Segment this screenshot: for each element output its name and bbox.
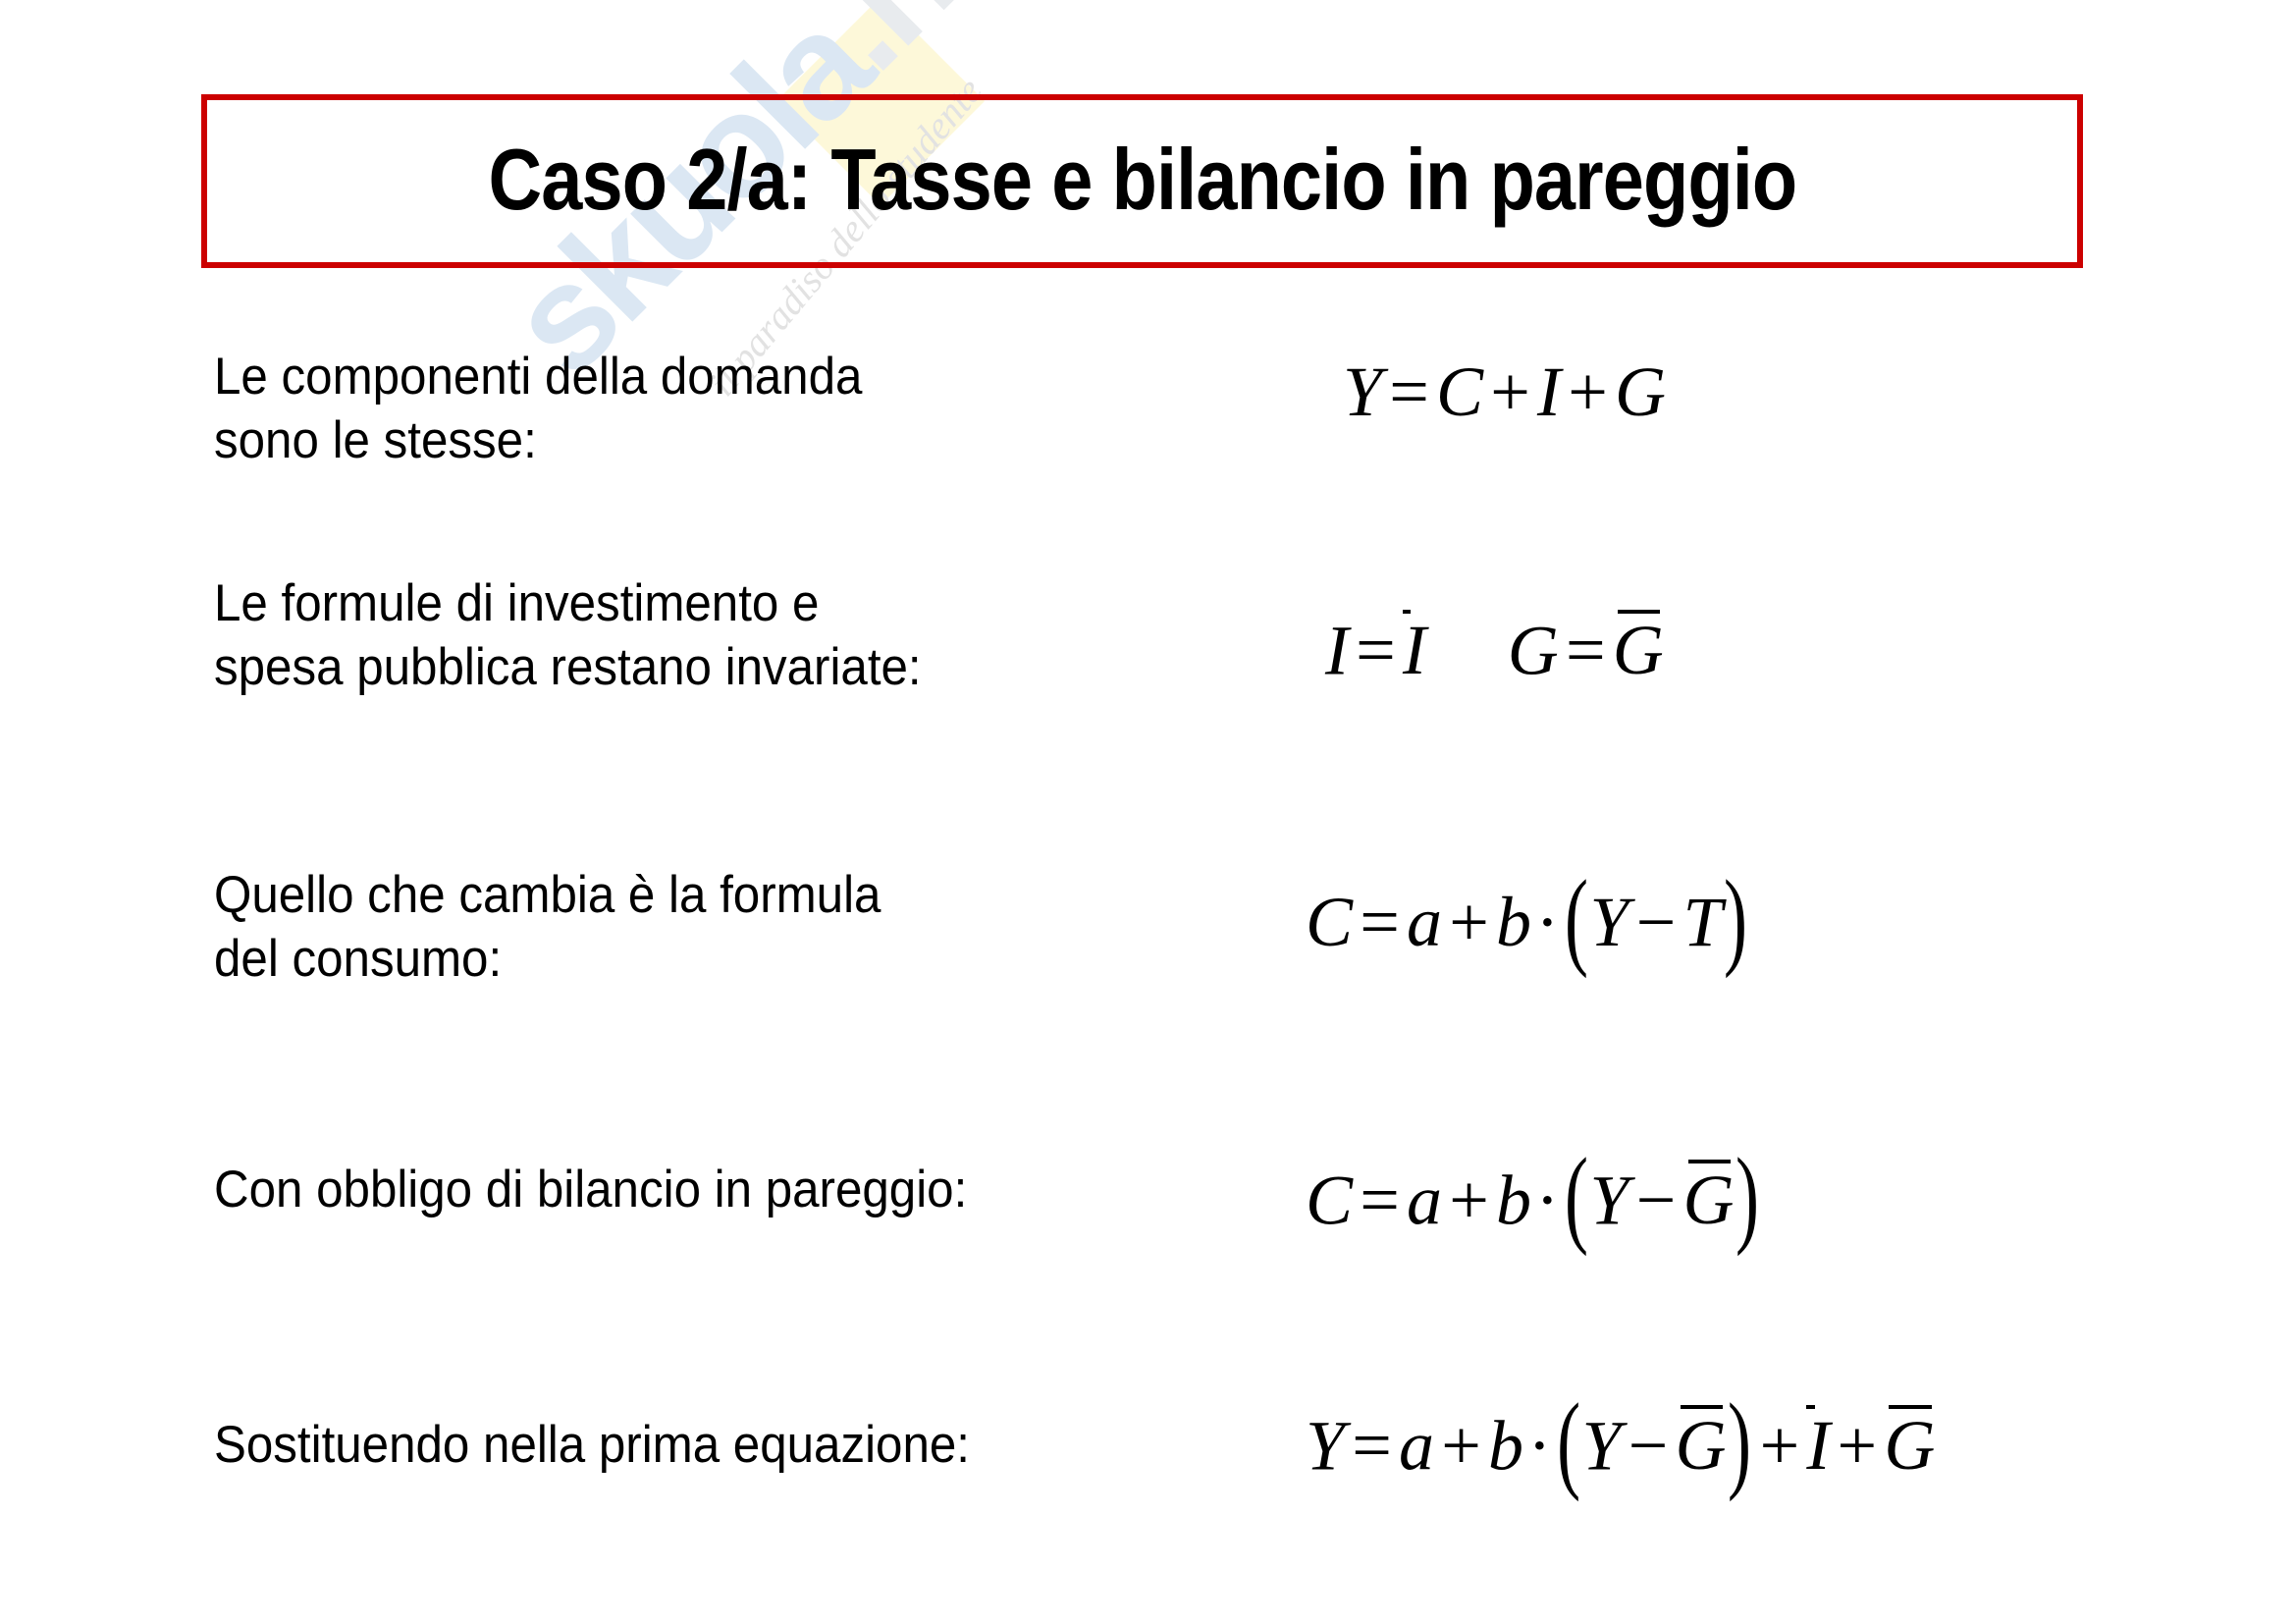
- eq3-lparen: (: [1564, 856, 1590, 983]
- slide-canvas: skuola.net il paradiso dello studente Ca…: [0, 0, 2296, 1623]
- eq2-I-bar: I: [1403, 609, 1426, 691]
- eq1-C: C: [1436, 352, 1483, 431]
- eq3-a: a: [1407, 883, 1442, 961]
- row-5-label: Sostituendo nella prima equazione:: [214, 1414, 1027, 1478]
- eq5-plus-2: +: [1752, 1406, 1806, 1485]
- eq2-equals-1: =: [1349, 611, 1403, 689]
- eq3-cdot: ·: [1531, 883, 1564, 961]
- eq4-b: b: [1496, 1161, 1531, 1239]
- eq4-G-bar: G: [1683, 1159, 1735, 1241]
- eq4-cdot: ·: [1531, 1161, 1564, 1239]
- eq3-plus: +: [1442, 883, 1496, 961]
- eq4-a: a: [1407, 1161, 1442, 1239]
- row-3-label: Quello che cambia è la formula del consu…: [214, 864, 932, 991]
- eq1-Y: Y: [1343, 352, 1382, 431]
- eq5-rparen: ): [1727, 1380, 1753, 1506]
- eq2-equals-2: =: [1559, 611, 1613, 689]
- row-1-label-text: Le componenti della domanda sono le stes…: [214, 346, 862, 472]
- eq3-b: b: [1496, 883, 1531, 961]
- eq4-equals: =: [1353, 1161, 1407, 1239]
- eq5-equals: =: [1345, 1406, 1399, 1485]
- eq5-G-bar-1: G: [1676, 1404, 1727, 1487]
- eq5-plus-3: +: [1830, 1406, 1884, 1485]
- eq2-I: I: [1325, 611, 1349, 689]
- eq5-minus: −: [1622, 1406, 1676, 1485]
- row-1-label: Le componenti della domanda sono le stes…: [214, 346, 911, 472]
- eq3-rparen: ): [1723, 856, 1749, 983]
- eq3-minus: −: [1629, 883, 1683, 961]
- row-5-equation: Y=a+b·(Y−G)+I+G: [1306, 1404, 1935, 1487]
- eq5-Y2: Y: [1581, 1406, 1621, 1485]
- row-2-equation: I=IG=G: [1325, 609, 1664, 691]
- page-title: Caso 2/a: Tasse e bilancio in pareggio: [207, 129, 2077, 229]
- row-3-label-text: Quello che cambia è la formula del consu…: [214, 864, 881, 991]
- eq2-G-bar: G: [1613, 609, 1664, 691]
- row-5-label-text: Sostituendo nella prima equazione:: [214, 1414, 970, 1478]
- row-4-label: Con obbligo di bilancio in pareggio:: [214, 1159, 1024, 1222]
- eq4-plus: +: [1442, 1161, 1496, 1239]
- eq4-Y: Y: [1589, 1161, 1629, 1239]
- eq2-G: G: [1508, 611, 1559, 689]
- eq5-G-bar-2: G: [1884, 1404, 1935, 1487]
- eq1-plus-1: +: [1483, 352, 1537, 431]
- eq5-cdot: ·: [1523, 1406, 1556, 1485]
- eq3-equals: =: [1353, 883, 1407, 961]
- row-2-label: Le formule di investimento e spesa pubbl…: [214, 572, 975, 699]
- row-3-equation: C=a+b·(Y−T): [1306, 882, 1748, 963]
- eq5-plus-1: +: [1434, 1406, 1488, 1485]
- eq1-I: I: [1537, 352, 1561, 431]
- eq5-lparen: (: [1556, 1380, 1582, 1506]
- eq1-plus-2: +: [1561, 352, 1615, 431]
- row-2-label-text: Le formule di investimento e spesa pubbl…: [214, 572, 922, 699]
- title-box: Caso 2/a: Tasse e bilancio in pareggio: [201, 94, 2083, 268]
- eq5-I-bar: I: [1806, 1404, 1830, 1487]
- row-4-label-text: Con obbligo di bilancio in pareggio:: [214, 1159, 967, 1222]
- eq4-rparen: ): [1735, 1134, 1761, 1261]
- row-4-equation: C=a+b·(Y−G): [1306, 1159, 1760, 1241]
- eq5-Y: Y: [1306, 1406, 1345, 1485]
- eq5-b: b: [1488, 1406, 1523, 1485]
- row-1-equation: Y=C+I+G: [1343, 352, 1666, 433]
- eq4-lparen: (: [1564, 1134, 1590, 1261]
- eq3-Y: Y: [1589, 883, 1629, 961]
- eq3-C: C: [1306, 883, 1353, 961]
- eq1-equals: =: [1382, 352, 1436, 431]
- eq4-minus: −: [1629, 1161, 1683, 1239]
- eq5-a: a: [1399, 1406, 1434, 1485]
- eq3-T: T: [1683, 883, 1723, 961]
- page-title-text: Caso 2/a: Tasse e bilancio in pareggio: [488, 129, 1796, 229]
- watermark-brand-suffix: .net: [782, 0, 1067, 100]
- eq1-G: G: [1615, 352, 1666, 431]
- eq4-C: C: [1306, 1161, 1353, 1239]
